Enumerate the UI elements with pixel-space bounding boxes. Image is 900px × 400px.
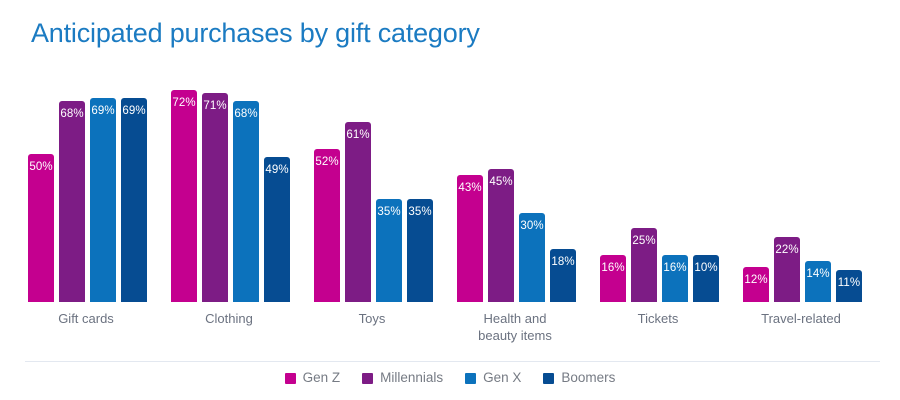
bar-slot: 30% [519, 66, 545, 302]
bar[interactable]: 16% [600, 255, 626, 302]
bar[interactable]: 10% [693, 255, 719, 302]
bar-value-label: 25% [631, 235, 657, 247]
x-axis-label: Gift cards [11, 310, 161, 327]
bar[interactable]: 11% [836, 270, 862, 302]
bar-slot: 35% [407, 66, 433, 302]
bar-group: 52%61%35%35% [314, 66, 440, 302]
bar-value-label: 10% [693, 262, 719, 274]
x-axis-label-line: Clothing [154, 310, 304, 327]
bar-value-label: 69% [121, 105, 147, 117]
bar-value-label: 72% [171, 97, 197, 109]
legend-label: Millennials [380, 371, 443, 385]
bar-group: 16%25%16%10% [600, 66, 726, 302]
bar-slot: 68% [59, 66, 85, 302]
bar-slot: 45% [488, 66, 514, 302]
bar-value-label: 68% [59, 108, 85, 120]
bar[interactable]: 61% [345, 122, 371, 302]
bar[interactable]: 71% [202, 93, 228, 302]
chart-legend: Gen ZMillennialsGen XBoomers [0, 371, 900, 385]
legend-item[interactable]: Boomers [543, 371, 615, 385]
legend-label: Boomers [561, 371, 615, 385]
bar-value-label: 52% [314, 156, 340, 168]
x-axis-label-line: Tickets [583, 310, 733, 327]
bar[interactable]: 22% [774, 237, 800, 302]
bar[interactable]: 35% [407, 199, 433, 302]
bar-value-label: 49% [264, 164, 290, 176]
bar-value-label: 71% [202, 100, 228, 112]
bar-group: 12%22%14%11% [743, 66, 869, 302]
bar-value-label: 14% [805, 268, 831, 280]
bar-slot: 12% [743, 66, 769, 302]
bar[interactable]: 14% [805, 261, 831, 302]
bar-group: 43%45%30%18% [457, 66, 583, 302]
bar-slot: 16% [662, 66, 688, 302]
bar-value-label: 50% [28, 161, 54, 173]
x-axis-label-line: Travel-related [726, 310, 876, 327]
bar[interactable]: 43% [457, 175, 483, 302]
bar-group: 72%71%68%49% [171, 66, 297, 302]
bar[interactable]: 16% [662, 255, 688, 302]
bar-value-label: 22% [774, 244, 800, 256]
bar[interactable]: 72% [171, 90, 197, 302]
bar-slot: 61% [345, 66, 371, 302]
bar[interactable]: 45% [488, 169, 514, 302]
x-axis-label: Tickets [583, 310, 733, 327]
x-axis-category-labels: Gift cardsClothingToysHealth andbeauty i… [0, 310, 900, 350]
bar-group: 50%68%69%69% [28, 66, 154, 302]
bar-slot: 35% [376, 66, 402, 302]
bar-slot: 11% [836, 66, 862, 302]
bar-value-label: 35% [376, 206, 402, 218]
bar-slot: 52% [314, 66, 340, 302]
bar-value-label: 30% [519, 220, 545, 232]
bar-value-label: 16% [662, 262, 688, 274]
legend-item[interactable]: Gen Z [285, 371, 341, 385]
legend-swatch-millennials-icon [362, 373, 373, 384]
x-axis-label-line: Toys [297, 310, 447, 327]
bar-value-label: 43% [457, 182, 483, 194]
bar-slot: 69% [90, 66, 116, 302]
bar-slot: 71% [202, 66, 228, 302]
x-axis-label: Toys [297, 310, 447, 327]
bar-slot: 49% [264, 66, 290, 302]
bar[interactable]: 35% [376, 199, 402, 302]
bar-slot: 50% [28, 66, 54, 302]
x-axis-label-line: beauty items [440, 327, 590, 344]
x-axis-label: Travel-related [726, 310, 876, 327]
bar-value-label: 16% [600, 262, 626, 274]
bar-value-label: 18% [550, 256, 576, 268]
x-axis-label: Clothing [154, 310, 304, 327]
bar-value-label: 35% [407, 206, 433, 218]
bar[interactable]: 25% [631, 228, 657, 302]
bar-slot: 10% [693, 66, 719, 302]
bar-slot: 68% [233, 66, 259, 302]
legend-swatch-boomers-icon [543, 373, 554, 384]
bar-slot: 22% [774, 66, 800, 302]
bar-slot: 18% [550, 66, 576, 302]
bar-value-label: 45% [488, 176, 514, 188]
bar-slot: 25% [631, 66, 657, 302]
bar[interactable]: 18% [550, 249, 576, 302]
bar[interactable]: 52% [314, 149, 340, 302]
bar-slot: 14% [805, 66, 831, 302]
bar-value-label: 61% [345, 129, 371, 141]
bar-value-label: 12% [743, 274, 769, 286]
bar-value-label: 68% [233, 108, 259, 120]
x-axis-label-line: Gift cards [11, 310, 161, 327]
legend-label: Gen X [483, 371, 521, 385]
x-axis-label-line: Health and [440, 310, 590, 327]
chart-container: Anticipated purchases by gift category 5… [0, 0, 900, 400]
bar-slot: 72% [171, 66, 197, 302]
legend-item[interactable]: Millennials [362, 371, 443, 385]
bar[interactable]: 50% [28, 154, 54, 302]
x-axis-label: Health andbeauty items [440, 310, 590, 344]
bar[interactable]: 69% [90, 98, 116, 302]
legend-label: Gen Z [303, 371, 341, 385]
bar[interactable]: 68% [233, 101, 259, 302]
legend-swatch-gen-x-icon [465, 373, 476, 384]
bar[interactable]: 68% [59, 101, 85, 302]
plot-area: 50%68%69%69%72%71%68%49%52%61%35%35%43%4… [0, 60, 900, 302]
chart-title: Anticipated purchases by gift category [31, 18, 480, 49]
bar-slot: 43% [457, 66, 483, 302]
bar-value-label: 69% [90, 105, 116, 117]
bar-value-label: 11% [836, 277, 862, 289]
legend-item[interactable]: Gen X [465, 371, 521, 385]
bar-slot: 16% [600, 66, 626, 302]
bar[interactable]: 30% [519, 213, 545, 302]
bar[interactable]: 12% [743, 267, 769, 302]
legend-swatch-gen-z-icon [285, 373, 296, 384]
bar[interactable]: 69% [121, 98, 147, 302]
bar-slot: 69% [121, 66, 147, 302]
bar[interactable]: 49% [264, 157, 290, 302]
x-axis-line [25, 361, 880, 362]
